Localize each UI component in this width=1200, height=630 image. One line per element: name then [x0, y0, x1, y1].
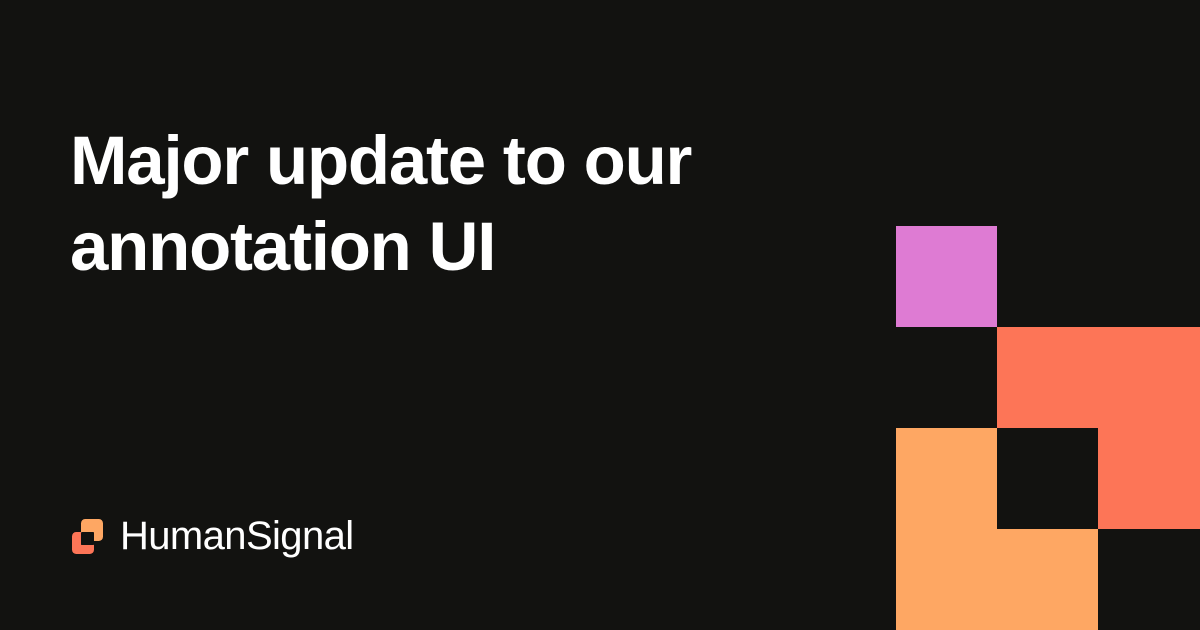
logo-mark-square-coral	[72, 532, 94, 554]
mosaic-block-orange-mid-square	[896, 428, 997, 529]
brand-logo-lockup: HumanSignal	[71, 516, 430, 560]
svg-text:HumanSignal: HumanSignal	[120, 516, 354, 558]
wordmark-text: HumanSignal	[120, 516, 354, 558]
social-share-card: Major update to our annotation UI HumanS…	[0, 0, 1200, 630]
humansignal-wordmark: HumanSignal	[120, 516, 430, 560]
mosaic-block-orange-bottom-bar	[896, 529, 1098, 630]
mosaic-block-orchid-square	[896, 226, 997, 327]
humansignal-logo-mark	[71, 518, 107, 558]
headline: Major update to our annotation UI	[70, 118, 850, 290]
mosaic-block-coral-lower-square	[1098, 428, 1200, 529]
mosaic-block-coral-upper-bar	[997, 327, 1200, 428]
